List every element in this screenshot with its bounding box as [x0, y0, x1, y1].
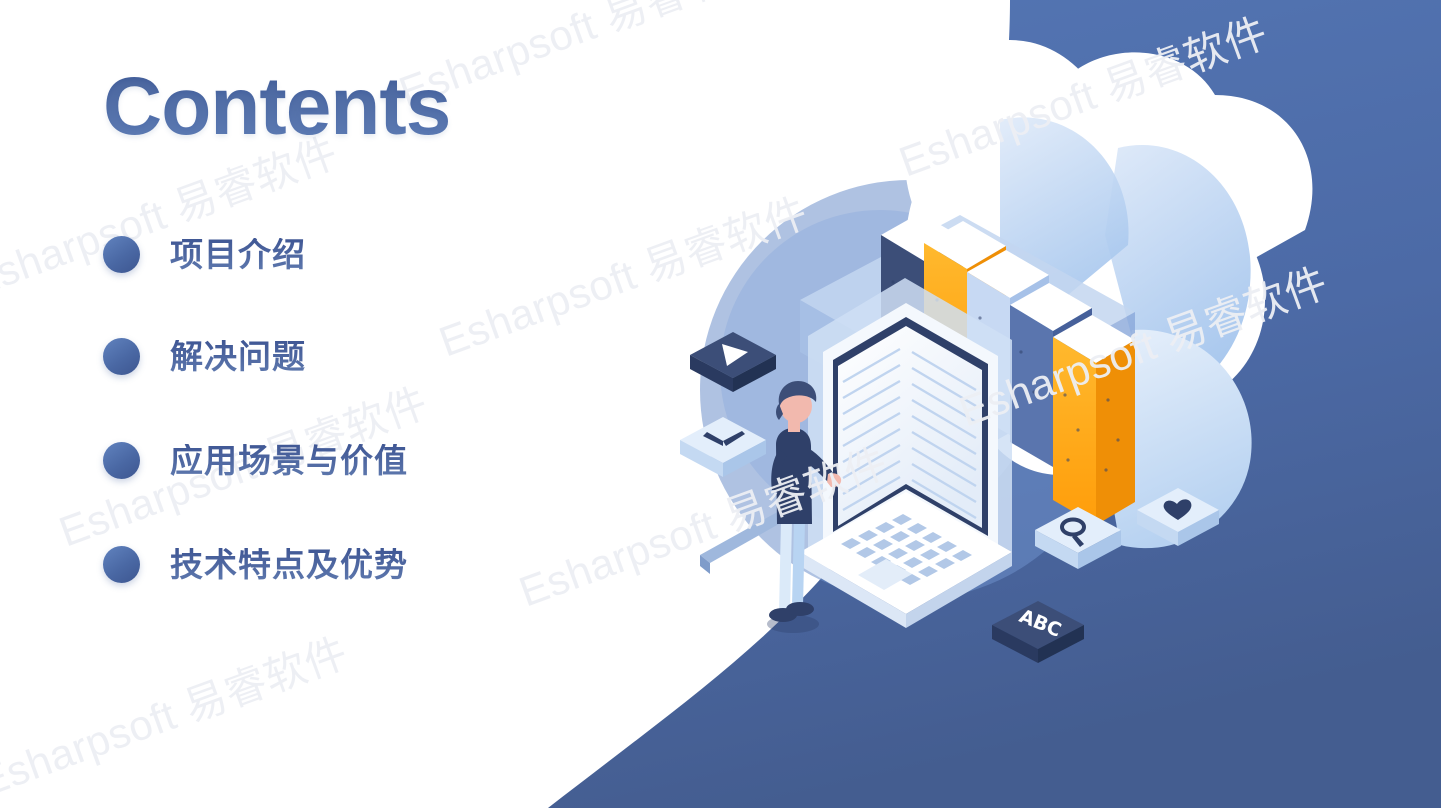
- table-of-contents: 项目介绍 解决问题 应用场景与价值 技术特点及优势: [0, 0, 560, 808]
- toc-item-label: 应用场景与价值: [170, 444, 408, 477]
- toc-item-1[interactable]: 项目介绍: [103, 230, 306, 278]
- toc-item-label: 项目介绍: [170, 238, 306, 271]
- toc-item-3[interactable]: 应用场景与价值: [103, 436, 408, 484]
- bullet-dot-icon: [103, 338, 140, 375]
- toc-item-2[interactable]: 解决问题: [103, 332, 306, 380]
- toc-item-4[interactable]: 技术特点及优势: [103, 540, 408, 588]
- abc-tile: ABC: [992, 601, 1084, 663]
- slide-canvas: ABC Esharpsoft 易睿软件 Esharpsoft 易睿软件 Esha…: [0, 0, 1441, 808]
- bullet-dot-icon: [103, 442, 140, 479]
- bullet-dot-icon: [103, 236, 140, 273]
- toc-item-label: 技术特点及优势: [170, 548, 408, 581]
- toc-item-label: 解决问题: [170, 340, 306, 373]
- laptop: [800, 278, 1012, 628]
- bullet-dot-icon: [103, 546, 140, 583]
